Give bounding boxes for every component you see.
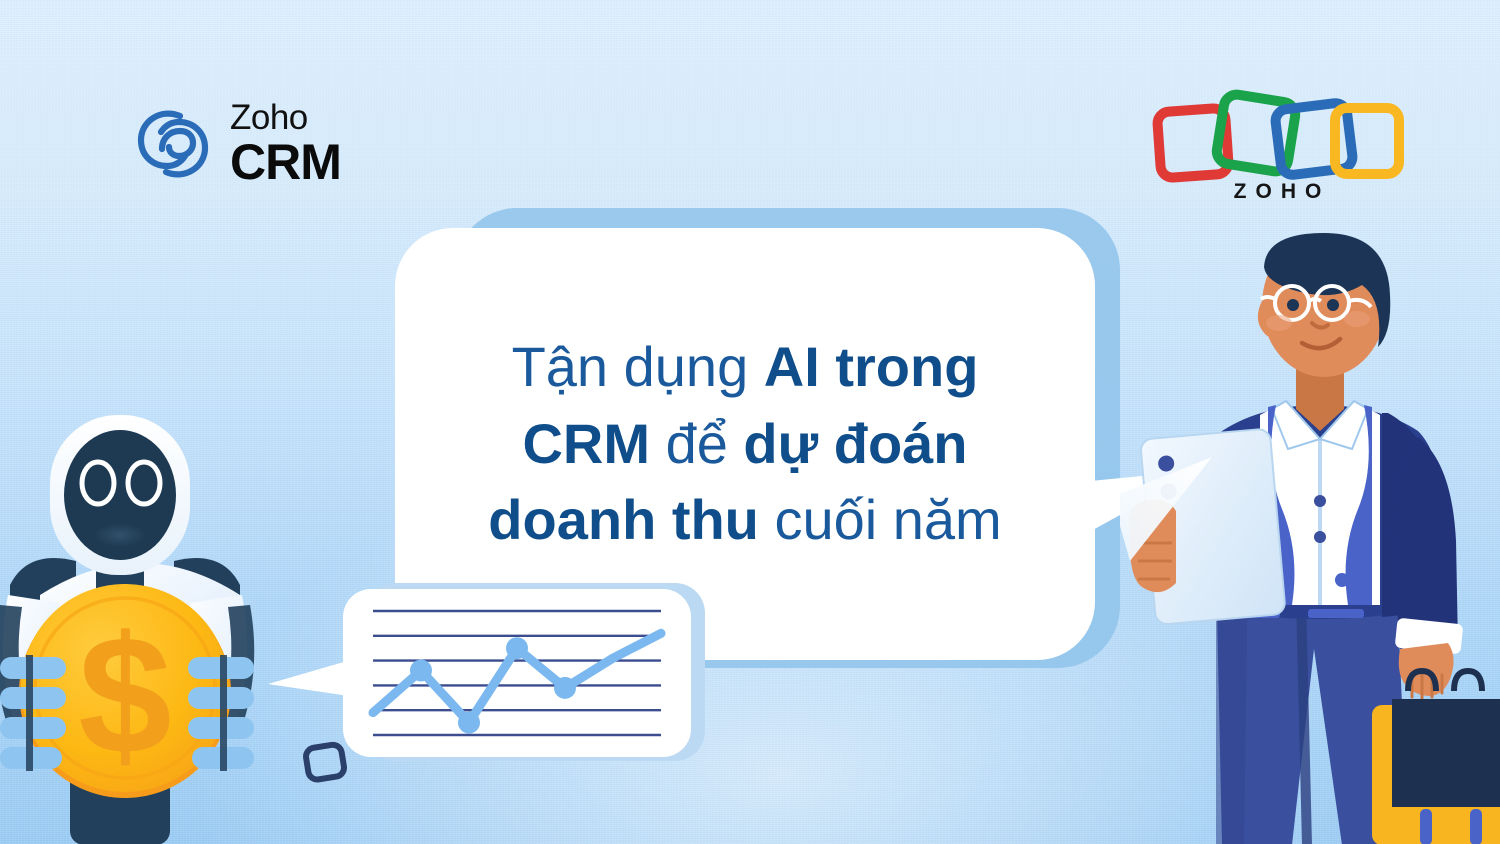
- headline-line-3-bold-first: doanh thu: [488, 488, 759, 551]
- crm-product-text: CRM: [230, 137, 341, 187]
- briefcase-strap-2: [1470, 809, 1482, 844]
- headline-line-2-bold: dự đoán: [743, 412, 967, 475]
- man-shirt-button-1: [1314, 495, 1326, 507]
- zoho-brand-text: Zoho: [230, 100, 341, 135]
- robot-mouth: [94, 523, 146, 547]
- man-pocket-right: [1308, 609, 1364, 618]
- headline-line-3: doanh thu cuối năm: [488, 484, 1001, 557]
- zoho-wordmark-text: ZOHO: [1148, 180, 1408, 204]
- headline-line-2-regular: để: [650, 412, 743, 475]
- zoho-crm-wordmark: Zoho CRM: [230, 100, 341, 187]
- headline-line-1: Tận dụng AI trong: [512, 331, 979, 404]
- briefcase-strap-1: [1420, 809, 1432, 844]
- ai-robot-character: $: [0, 405, 282, 844]
- man-jacket-button: [1335, 573, 1349, 587]
- chart-data-point: [506, 637, 528, 659]
- chart-data-point: [554, 677, 576, 699]
- headline-line-1-regular: Tận dụng: [512, 335, 764, 398]
- man-shirt-placket: [1318, 439, 1322, 605]
- headline-line-2-bold-first: CRM: [522, 412, 650, 475]
- man-shirt-button-2: [1314, 531, 1326, 543]
- headline-line-3-regular: cuối năm: [759, 488, 1002, 551]
- briefcase-flap: [1392, 699, 1500, 807]
- headline-line-1-bold: AI trong: [764, 335, 979, 398]
- zoho-crm-logo[interactable]: Zoho CRM: [134, 100, 341, 187]
- man-eye-right: [1327, 299, 1339, 311]
- man-arm-right: [1392, 437, 1458, 649]
- man-cheek-right: [1344, 311, 1370, 327]
- zoho-corporate-logo[interactable]: ZOHO: [1148, 86, 1408, 206]
- chart-data-point: [458, 712, 480, 734]
- rounded-square-outline-icon: [300, 740, 352, 788]
- man-eye-left: [1287, 299, 1299, 311]
- chart-data-point: [410, 660, 432, 682]
- revenue-forecast-chart-card: [343, 589, 691, 757]
- headline-line-2: CRM để dự đoán: [522, 408, 967, 481]
- briefcase-handle-right: [1454, 671, 1482, 691]
- zoho-crm-infinity-link-icon: [134, 104, 212, 184]
- man-cheek-left: [1266, 315, 1292, 331]
- businessman-character: [1120, 205, 1500, 844]
- svg-text:$: $: [78, 601, 171, 789]
